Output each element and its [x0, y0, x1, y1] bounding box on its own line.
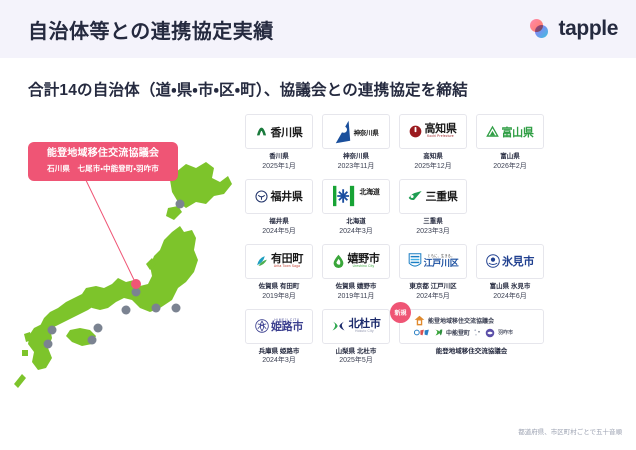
partner-card-hokuto[interactable]: 北杜市 Hokuto City 山梨県 北杜市 2025年5月 — [322, 309, 390, 366]
card-name: 香川県 — [245, 153, 313, 161]
nanao-mark-icon — [414, 328, 431, 337]
council-member-label: 能登地域移住交流協議会 — [428, 316, 494, 325]
partner-card-kagawa[interactable]: 香川県 香川県 2025年1月 — [245, 114, 313, 171]
card-name: 兵庫県 姫路市 — [245, 348, 313, 356]
fukui-circle-mark-icon: 福井県 — [245, 179, 313, 214]
card-date: 2025年12月 — [399, 162, 467, 171]
map-marker-tokyo — [172, 304, 181, 313]
card-date: 2019年8月 — [245, 292, 313, 301]
japan-map: 能登地域移住交流協議会 石川県 七尾市・中能登町・羽咋市 — [0, 112, 240, 442]
map-marker-hokkaido — [176, 200, 185, 209]
noto-house-mark-icon — [414, 315, 425, 326]
card-date: 2026年2月 — [476, 162, 544, 171]
hokkaido-logo-text: 北海道 — [359, 187, 379, 197]
noto-council-logo-group: 能登地域移住交流協議会 中能登町 羽咋市 — [399, 309, 544, 344]
kochi-logo-subtext: Kochi Prefecture — [427, 135, 454, 138]
card-name: 佐賀県 有田町 — [245, 283, 313, 291]
card-name: 三重県 — [399, 218, 467, 226]
map-marker-kanto — [152, 304, 161, 313]
card-date: 2025年1月 — [245, 162, 313, 171]
footnote: 都道府県、市区町村ごとで五十音順 — [518, 426, 622, 436]
hokkaido-snowflake-mark-icon: 北海道 — [322, 179, 390, 214]
arita-leaf-mark-icon: 有田町 Arita Town Saga — [245, 244, 313, 279]
partner-card-toyama[interactable]: 富山県 富山県 2026年2月 — [476, 114, 544, 171]
hakui-mark-icon — [485, 328, 495, 338]
partner-card-grid: 香川県 香川県 2025年1月 神奈川県 神奈川県 2023年11月 — [245, 114, 625, 374]
map-marker-shikoku — [88, 336, 97, 345]
slide-root: 自治体等との連携協定実績 tapple 合計14の自治体（道・県・市・区・町）、… — [0, 0, 636, 450]
card-date: 2023年11月 — [322, 162, 390, 171]
card-name: 神奈川県 — [322, 153, 390, 161]
card-name: 富山県 — [476, 153, 544, 161]
fukui-logo-text: 福井県 — [270, 188, 302, 204]
ureshino-logo-subtext: Ureshino City — [353, 265, 375, 268]
partner-card-himi[interactable]: 氷見市 富山県 氷見市 2024年6月 — [476, 244, 544, 301]
himi-circle-mark-icon: 氷見市 — [476, 244, 544, 279]
card-row-2: 福井県 福井県 2024年5月 — [245, 179, 625, 236]
callout-subtitle: 石川県 七尾市・中能登町・羽咋市 — [34, 163, 172, 174]
card-date: 2024年5月 — [399, 292, 467, 301]
kochi-circle-mark-icon: 高知県 Kochi Prefecture — [399, 114, 467, 149]
map-marker-chubu — [122, 306, 131, 315]
council-member-label: 羽咋市 — [498, 329, 513, 336]
kagawa-olive-mark-icon: 香川県 — [245, 114, 313, 149]
new-badge: 新規 — [390, 302, 411, 323]
page-title: 自治体等との連携協定実績 — [28, 15, 274, 44]
callout-title: 能登地域移住交流協議会 — [34, 148, 172, 161]
brand-name: tapple — [559, 18, 618, 39]
card-date: 2024年6月 — [476, 292, 544, 301]
tapple-dual-circle-logo-icon — [530, 19, 552, 39]
himeji-triquetra-mark-icon: HIMEJI CITY 姫路市 — [245, 309, 313, 344]
edogawa-badge-mark-icon: ともに、生きる。 江戸川区 — [399, 244, 467, 279]
partner-card-edogawa[interactable]: ともに、生きる。 江戸川区 東京都 江戸川区 2024年5月 — [399, 244, 467, 301]
partner-card-kochi[interactable]: 高知県 Kochi Prefecture 高知県 2025年12月 — [399, 114, 467, 171]
ureshino-droplet-mark-icon: 嬉野市 Ureshino City — [322, 244, 390, 279]
partner-card-himeji[interactable]: HIMEJI CITY 姫路市 兵庫県 姫路市 2024年3月 — [245, 309, 313, 366]
mie-swoosh-mark-icon: 三重県 — [399, 179, 467, 214]
card-name: 富山県 氷見市 — [476, 283, 544, 291]
brand-logo: tapple — [530, 18, 618, 39]
japan-landmass — [14, 162, 232, 388]
partner-card-kanagawa[interactable]: 神奈川県 神奈川県 2023年11月 — [322, 114, 390, 171]
partner-card-hokkaido[interactable]: 北海道 北海道 2024年3月 — [322, 179, 390, 236]
toyama-logo-text: 富山県 — [501, 124, 533, 140]
card-date: 2023年3月 — [399, 227, 467, 236]
card-name: 北海道 — [322, 218, 390, 226]
nakanoto-mark-icon — [434, 328, 443, 337]
kagawa-logo-text: 香川県 — [270, 124, 302, 140]
council-member-row-1: 能登地域移住交流協議会 — [414, 315, 513, 326]
callout-leader-line — [82, 172, 136, 284]
partner-card-fukui[interactable]: 福井県 福井県 2024年5月 — [245, 179, 313, 236]
kanagawa-logo-text: 神奈川県 — [354, 127, 379, 137]
partner-card-ureshino[interactable]: 嬉野市 Ureshino City 佐賀県 嬉野市 2019年11月 — [322, 244, 390, 301]
kanagawa-banner-mark-icon: 神奈川県 — [322, 114, 390, 149]
mie-logo-text: 三重県 — [425, 188, 457, 204]
card-row-1: 香川県 香川県 2025年1月 神奈川県 神奈川県 2023年11月 — [245, 114, 625, 171]
council-member-row-2: 中能登町 羽咋市 — [414, 328, 513, 338]
council-dots-icon — [473, 328, 482, 337]
map-marker-kansai — [94, 324, 103, 333]
card-name: 山梨県 北杜市 — [322, 348, 390, 356]
card-name: 能登地域移住交流協議会 — [399, 348, 544, 356]
arita-logo-subtext: Arita Town Saga — [274, 265, 300, 268]
map-callout: 能登地域移住交流協議会 石川県 七尾市・中能登町・羽咋市 — [28, 142, 178, 181]
hokuto-logo-subtext: Hokuto City — [355, 330, 374, 333]
card-date: 2025年5月 — [322, 356, 390, 365]
edogawa-logo-text: 江戸川区 — [424, 259, 459, 268]
himeji-logo-text: 姫路市 — [271, 322, 303, 333]
partner-card-mie[interactable]: 三重県 三重県 2023年3月 — [399, 179, 467, 236]
card-name: 佐賀県 嬉野市 — [322, 283, 390, 291]
map-marker-kyushu-north — [48, 326, 57, 335]
card-name: 東京都 江戸川区 — [399, 283, 467, 291]
card-name: 高知県 — [399, 153, 467, 161]
hokuto-wings-mark-icon: 北杜市 Hokuto City — [322, 309, 390, 344]
card-date: 2024年3月 — [322, 227, 390, 236]
toyama-mountain-mark-icon: 富山県 — [476, 114, 544, 149]
card-date: 2019年11月 — [322, 292, 390, 301]
himi-logo-text: 氷見市 — [502, 253, 534, 269]
card-date: 2024年3月 — [245, 356, 313, 365]
council-member-label: 中能登町 — [446, 328, 470, 337]
map-marker-noto-highlight — [131, 279, 141, 289]
card-name: 福井県 — [245, 218, 313, 226]
subtitle: 合計14の自治体（道・県・市・区・町）、協議会との連携協定を締結 — [28, 78, 468, 100]
card-date: 2024年5月 — [245, 227, 313, 236]
map-marker-kyushu-south — [44, 340, 53, 349]
card-row-4: HIMEJI CITY 姫路市 兵庫県 姫路市 2024年3月 北杜市 Hoku… — [245, 309, 625, 366]
card-row-3: 有田町 Arita Town Saga 佐賀県 有田町 2019年8月 嬉野市 … — [245, 244, 625, 301]
partner-card-arita[interactable]: 有田町 Arita Town Saga 佐賀県 有田町 2019年8月 — [245, 244, 313, 301]
partner-card-noto-council[interactable]: 新規 能登地域移住交流協議会 中能登町 羽咋市 — [399, 309, 544, 366]
